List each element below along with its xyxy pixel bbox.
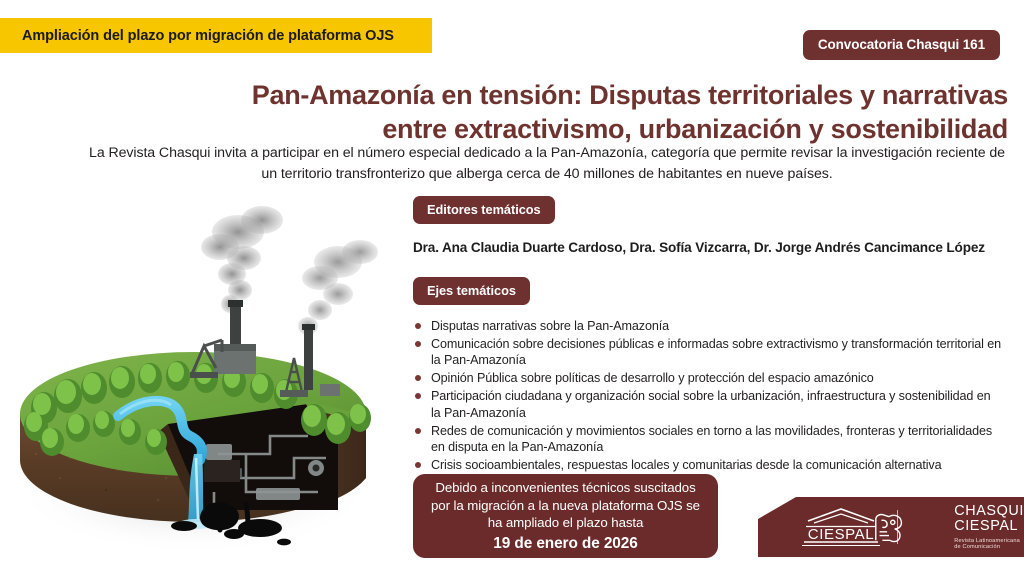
axes-section-header: Ejes temáticos	[413, 277, 1013, 305]
chasqui-glyph-icon	[870, 511, 908, 545]
smoke-plume-group	[201, 206, 378, 335]
list-item: Participación ciudadana y organización s…	[413, 388, 1003, 420]
intro-paragraph: La Revista Chasqui invita a participar e…	[86, 143, 1008, 184]
axes-section-pill: Ejes temáticos	[413, 277, 530, 305]
list-item: Comunicación sobre decisiones públicas e…	[413, 336, 1003, 368]
list-item: Redes de comunicación y movimientos soci…	[413, 423, 1003, 455]
deadline-date: 19 de enero de 2026	[493, 535, 637, 553]
page-title: Pan-Amazonía en tensión: Disputas territ…	[190, 78, 1008, 147]
chasqui-tagline: Revista Latinoamericana de Comunicación	[954, 538, 1024, 550]
ciespal-logo-text: CIESPAL	[808, 526, 874, 543]
call-number-badge: Convocatoria Chasqui 161	[803, 30, 1000, 60]
chasqui-wordmark: CHASQUI CIESPAL Revista Latinoamericana …	[954, 504, 1024, 551]
editors-names: Dra. Ana Claudia Duarte Cardoso, Dra. So…	[413, 240, 1013, 255]
logo-banner: CIESPAL CHASQUI CIESPAL Revista Latinoam…	[758, 497, 1024, 557]
poster-root: Ampliación del plazo por migración de pl…	[0, 0, 1024, 576]
list-item: Disputas narrativas sobre la Pan-Amazoní…	[413, 318, 1003, 334]
deadline-notice-box: Debido a inconvenientes técnicos suscita…	[413, 474, 718, 558]
deadline-extension-banner: Ampliación del plazo por migración de pl…	[0, 18, 432, 53]
deadline-notice-text: Debido a inconvenientes técnicos suscita…	[425, 479, 706, 532]
chasqui-wordmark-line-2: CIESPAL	[954, 519, 1024, 534]
list-item: Crisis socioambientales, respuestas loca…	[413, 457, 1003, 473]
deadline-extension-banner-text: Ampliación del plazo por migración de pl…	[0, 28, 394, 44]
chasqui-wordmark-line-1: CHASQUI	[954, 504, 1024, 519]
page-title-line-2: entre extractivismo, urbanización y sost…	[190, 112, 1008, 146]
land-cross-section-illustration	[8, 192, 408, 576]
underground-chamber	[204, 460, 240, 482]
page-title-line-1: Pan-Amazonía en tensión: Disputas territ…	[190, 78, 1008, 112]
editors-section-pill: Editores temáticos	[413, 196, 555, 224]
thematic-axes-list: Disputas narrativas sobre la Pan-Amazoní…	[413, 318, 1003, 473]
list-item: Opinión Pública sobre políticas de desar…	[413, 370, 1003, 386]
content-column: Editores temáticos Dra. Ana Claudia Duar…	[413, 196, 1013, 475]
